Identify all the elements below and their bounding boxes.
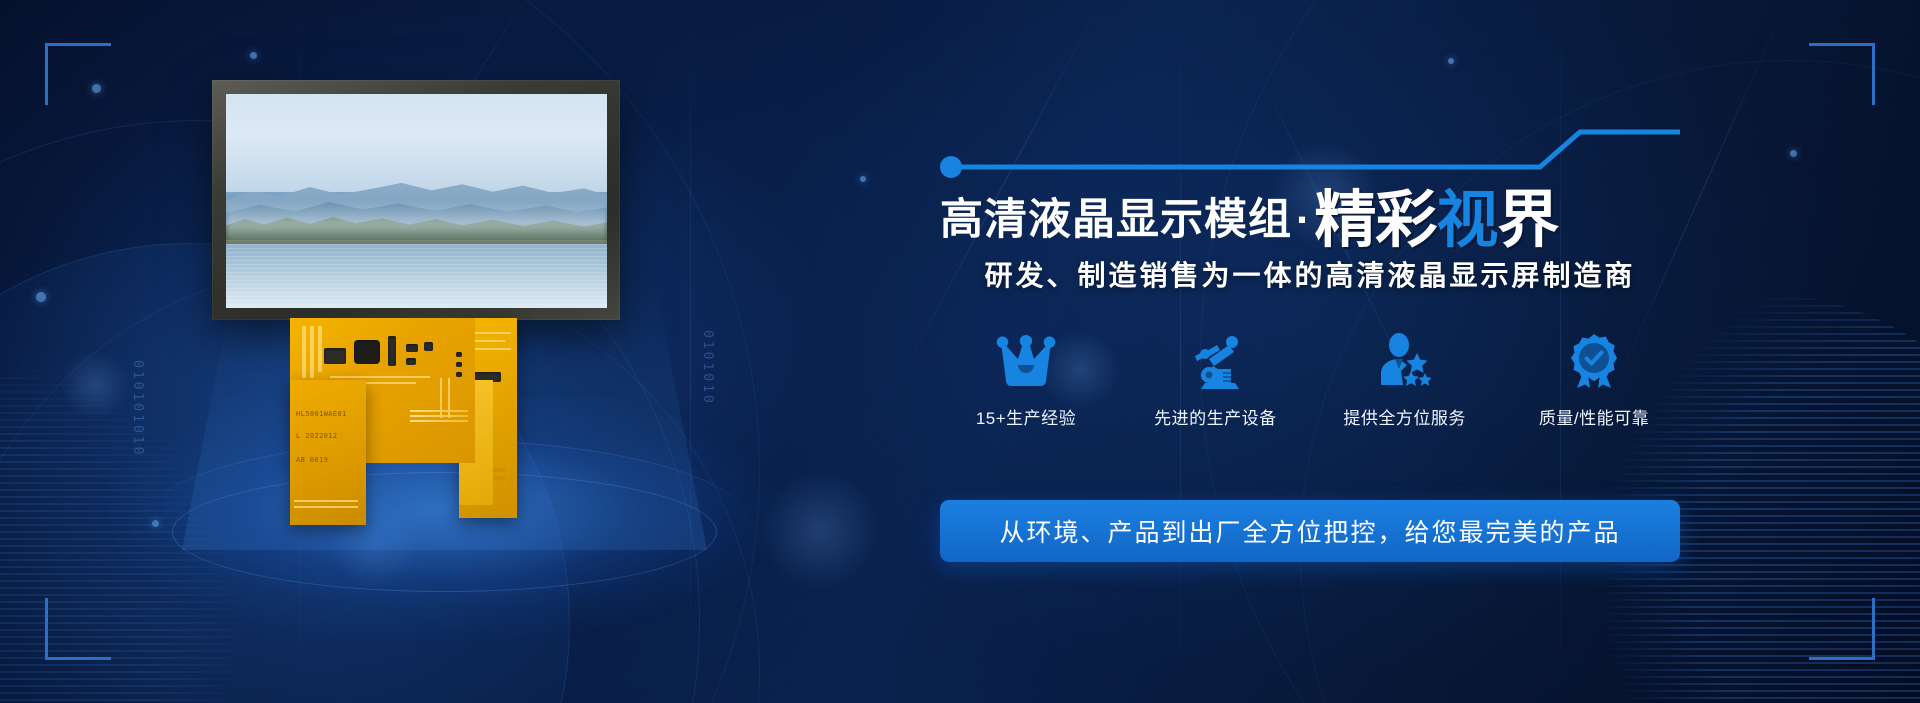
network-node bbox=[1448, 58, 1454, 64]
feature-label: 质量/性能可靠 bbox=[1539, 404, 1649, 429]
network-node bbox=[250, 52, 257, 59]
feature-label: 先进的生产设备 bbox=[1154, 404, 1277, 429]
lake-water bbox=[226, 244, 607, 308]
headline-accent-part-2: 视 bbox=[1436, 183, 1497, 256]
robot-arm-icon bbox=[1184, 332, 1246, 390]
headline-accent-part-1: 精彩 bbox=[1314, 183, 1436, 256]
feature-item-quality: 质量/性能可靠 bbox=[1508, 332, 1680, 429]
corner-bracket-top-left bbox=[45, 43, 111, 105]
network-node bbox=[860, 176, 866, 182]
network-node bbox=[1790, 150, 1797, 157]
lcd-display-module: 0RB3400 HL5001WAE01 bbox=[212, 80, 692, 550]
binary-text-right: 0101010 bbox=[700, 330, 715, 406]
feature-label: 15+生产经验 bbox=[976, 404, 1076, 429]
headline-accent-part-3: 界 bbox=[1497, 183, 1558, 256]
feature-list: 15+生产经验 bbox=[940, 332, 1680, 429]
headline-separator: · bbox=[1292, 199, 1314, 242]
network-node bbox=[36, 292, 46, 302]
cta-label: 从环境、产品到出厂全方位把控，给您最完美的产品 bbox=[999, 513, 1620, 549]
lcd-bezel bbox=[212, 80, 620, 320]
lcd-screen-landscape bbox=[226, 94, 607, 308]
quality-badge-icon bbox=[1563, 332, 1625, 390]
crown-icon bbox=[995, 332, 1057, 390]
service-star-icon bbox=[1374, 332, 1436, 390]
mist-haze bbox=[226, 201, 607, 248]
sky-gradient bbox=[226, 94, 607, 192]
headline-accent: 精彩视界 bbox=[1314, 191, 1558, 248]
corner-bracket-bottom-right bbox=[1809, 598, 1875, 660]
network-node bbox=[92, 84, 101, 93]
feature-item-experience: 15+生产经验 bbox=[940, 332, 1112, 429]
podium-ring bbox=[172, 472, 717, 592]
cta-banner-button[interactable]: 从环境、产品到出厂全方位把控，给您最完美的产品 bbox=[940, 500, 1680, 562]
headline: 高清液晶显示模组 · 精彩视界 bbox=[940, 170, 1680, 242]
promo-banner: 010101010 0101010 0RB3400 bbox=[0, 0, 1920, 703]
feature-item-service: 提供全方位服务 bbox=[1319, 332, 1491, 429]
feature-item-equipment: 先进的生产设备 bbox=[1129, 332, 1301, 429]
pcb-bottom-flex: HL5001WAE01 L 2022012 AB 0619 bbox=[290, 380, 366, 525]
corner-bracket-top-right bbox=[1809, 43, 1875, 105]
feature-label: 提供全方位服务 bbox=[1343, 404, 1466, 429]
subtitle: 研发、制造销售为一体的高清液晶显示屏制造商 bbox=[940, 254, 1680, 294]
headline-plain: 高清液晶显示模组 bbox=[940, 199, 1292, 242]
